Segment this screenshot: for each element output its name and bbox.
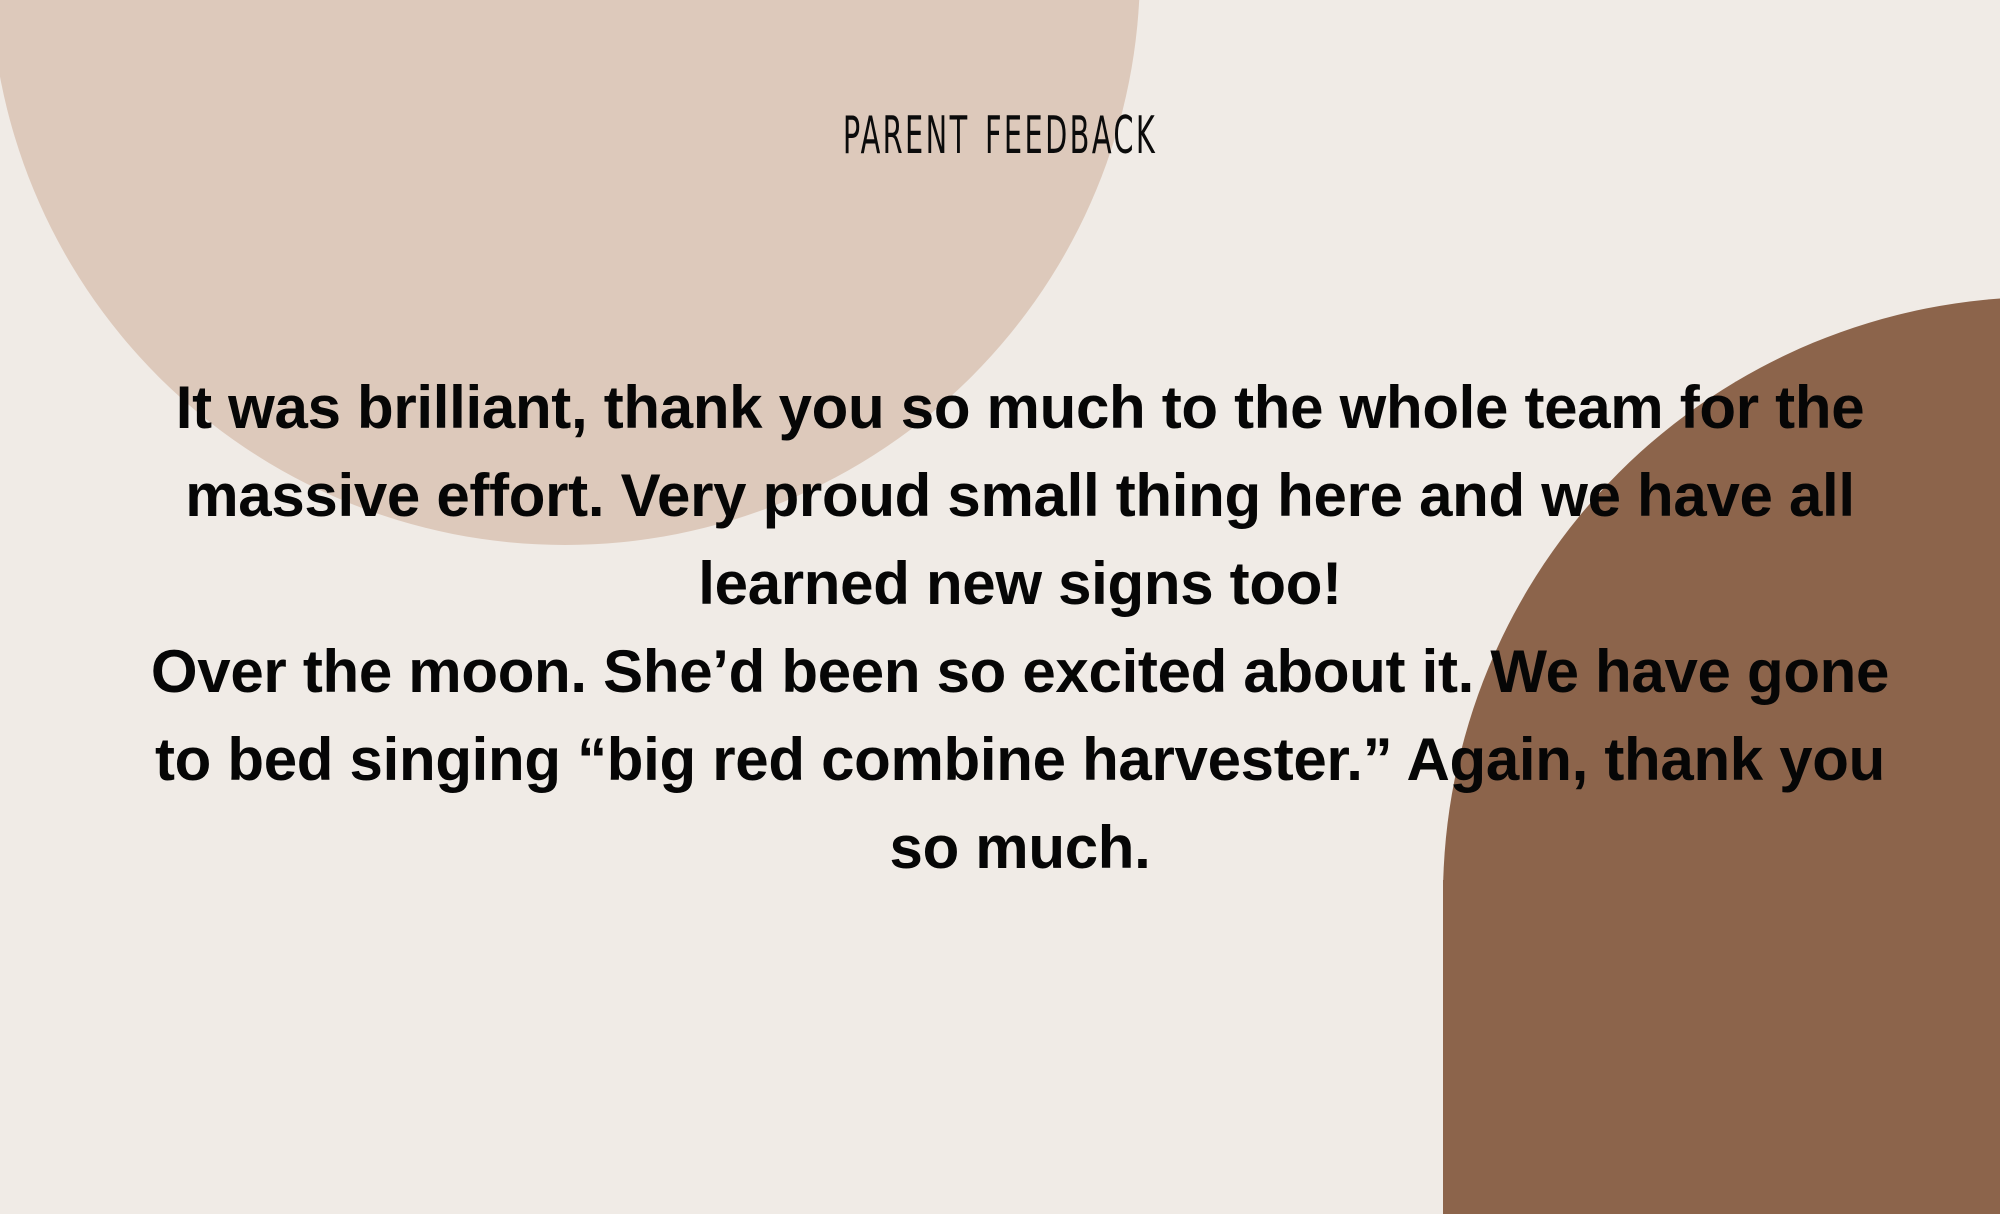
slide-content: Parent Feedback It was brilliant, thank … [0,0,2000,1214]
feedback-body: It was brilliant, thank you so much to t… [120,364,1920,892]
slide-background: Parent Feedback It was brilliant, thank … [0,0,2000,1214]
feedback-paragraph: It was brilliant, thank you so much to t… [120,364,1920,628]
slide-canvas: Parent Feedback It was brilliant, thank … [0,0,2000,1222]
page-title: Parent Feedback [200,92,1800,166]
feedback-paragraph: Over the moon. She’d been so excited abo… [120,628,1920,892]
